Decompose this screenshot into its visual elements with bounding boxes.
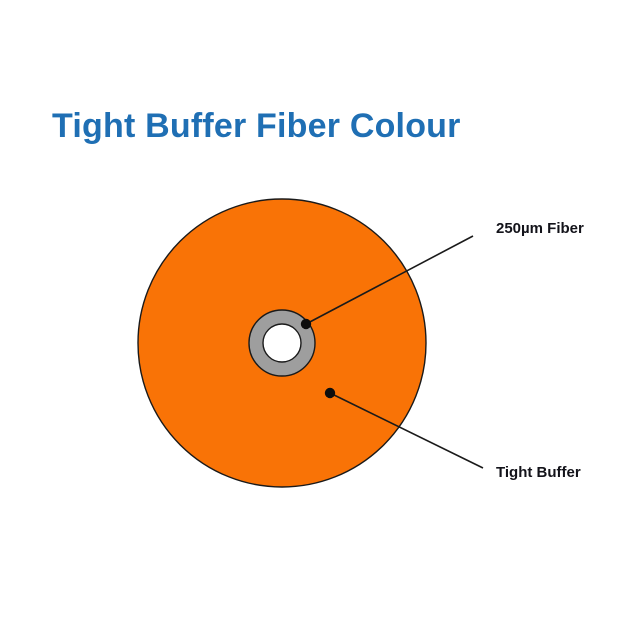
fiber-cross-section-diagram: Tight Buffer Fiber Colour 250µm Fiber Ti… [0,0,640,640]
cross-section-illustration [0,0,640,640]
fiber-core-layer [263,324,301,362]
leader-dot-fiber [301,319,311,329]
leader-dot-tight-buffer [325,388,335,398]
callout-label-tight-buffer: Tight Buffer [496,464,581,482]
callout-label-fiber: 250µm Fiber [496,220,584,238]
